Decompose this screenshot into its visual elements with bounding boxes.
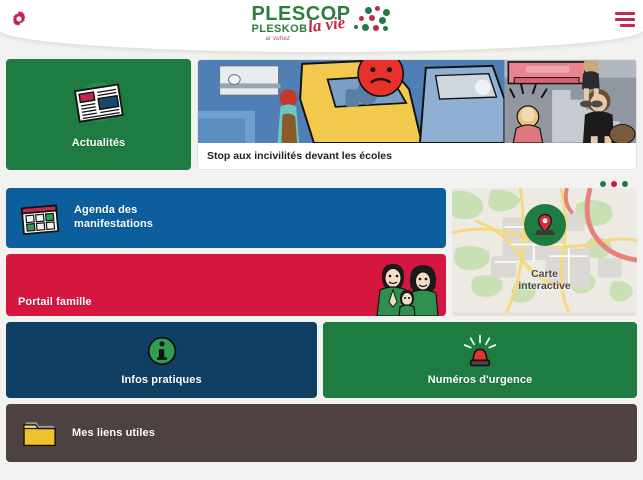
card-actualites-label: Actualités <box>72 137 126 149</box>
news-slider-caption: Stop aux incivilités devant les écoles <box>198 143 636 169</box>
card-carte-label: Carte interactive <box>518 268 571 292</box>
map-pin-icon <box>533 213 557 237</box>
card-portail-famille[interactable]: Portail famille <box>6 254 446 316</box>
column-agenda-portail: Agenda des manifestations Portail famill… <box>6 188 446 316</box>
card-mes-liens-utiles[interactable]: Mes liens utiles <box>6 404 637 462</box>
site-header: PLESCOP PLESKOB ar vuhez la vie <box>0 0 643 52</box>
card-agenda-label-line1: Agenda des <box>74 204 153 218</box>
slider-dot[interactable] <box>622 181 628 187</box>
hamburger-line <box>615 12 635 15</box>
card-numeros-urgence[interactable]: Numéros d'urgence <box>323 322 637 398</box>
card-agenda-label: Agenda des manifestations <box>74 204 153 232</box>
card-carte-label-line2: interactive <box>518 280 571 292</box>
map-pin-button[interactable] <box>524 204 566 246</box>
slider-dot[interactable] <box>600 181 606 187</box>
home-grid: Actualités <box>0 59 643 462</box>
row-liens-utiles: Mes liens utiles <box>6 404 637 462</box>
family-icon <box>372 258 442 316</box>
logo-tagline: ar vuhez <box>265 36 350 42</box>
card-news-slider[interactable]: Stop aux incivilités devant les écoles <box>197 59 637 170</box>
row-agenda-carte: Agenda des manifestations Portail famill… <box>6 188 637 316</box>
settings-button[interactable] <box>8 8 30 30</box>
card-agenda-label-line2: manifestations <box>74 218 153 232</box>
calendar-icon <box>20 200 60 236</box>
info-icon <box>146 335 178 367</box>
slider-dot[interactable] <box>611 181 617 187</box>
logo-script-text: la vie <box>307 14 346 35</box>
news-slider-image <box>198 60 636 143</box>
hamburger-line <box>615 18 635 21</box>
row-news: Actualités <box>6 59 637 170</box>
folder-icon <box>22 417 58 449</box>
card-numeros-urgence-label: Numéros d'urgence <box>428 374 533 386</box>
card-carte-label-line1: Carte <box>518 268 571 280</box>
card-infos-pratiques-label: Infos pratiques <box>121 374 201 386</box>
logo-wordmark: PLESCOP PLESKOB ar vuhez la vie <box>251 5 350 42</box>
logo-dots-decoration <box>354 6 392 38</box>
row-infos-urgence: Infos pratiques Numéros d'urgence <box>6 322 637 398</box>
siren-icon <box>461 334 499 368</box>
card-agenda[interactable]: Agenda des manifestations <box>6 188 446 248</box>
newspaper-icon <box>70 80 128 128</box>
card-actualites[interactable]: Actualités <box>6 59 191 170</box>
incivility-illustration <box>198 60 636 143</box>
card-portail-famille-label: Portail famille <box>18 296 92 308</box>
slider-dots[interactable] <box>600 181 628 187</box>
card-infos-pratiques[interactable]: Infos pratiques <box>6 322 317 398</box>
menu-button[interactable] <box>611 10 635 28</box>
site-logo[interactable]: PLESCOP PLESKOB ar vuhez la vie <box>251 5 391 42</box>
hamburger-line <box>620 24 635 27</box>
gear-icon <box>10 10 28 28</box>
card-mes-liens-utiles-label: Mes liens utiles <box>72 427 155 439</box>
card-carte-interactive[interactable]: Carte interactive <box>452 188 637 316</box>
